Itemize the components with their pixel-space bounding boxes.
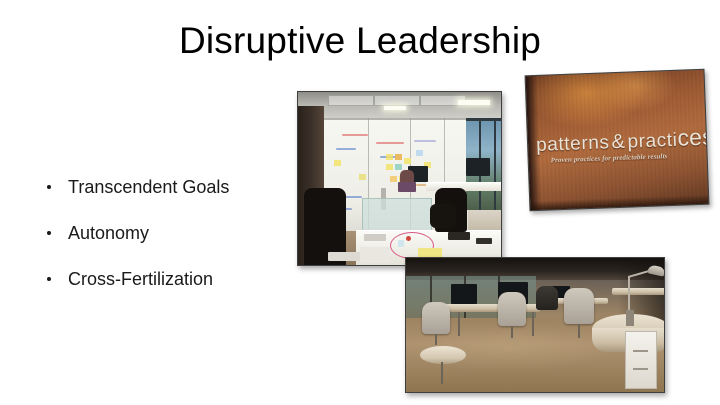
sign-word-patterns: patterns [536, 132, 610, 156]
ceiling-tile [328, 95, 374, 106]
sign-ampersand: & [609, 131, 628, 154]
whiteboard-writing [376, 142, 404, 144]
slide-canvas: Disruptive Leadership Transcendent Goals… [0, 0, 720, 405]
bullet-dot-icon [47, 231, 51, 235]
chair-post [435, 334, 437, 345]
photo-patterns-practices-image: patterns&practices Proven practices for … [526, 70, 709, 210]
lamp-base [626, 310, 634, 326]
sticky-note [334, 160, 341, 166]
lamp-post [628, 276, 630, 310]
ceiling-tile [374, 95, 420, 106]
device [476, 238, 492, 244]
ceiling-light [458, 100, 490, 105]
sticky-note [395, 164, 402, 170]
power-strip [364, 234, 386, 241]
list-item-label: Transcendent Goals [68, 177, 229, 197]
paper [360, 247, 390, 263]
desk-leg [532, 312, 534, 336]
whiteboard-writing [414, 140, 436, 142]
round-table [420, 346, 466, 364]
sticky-note [386, 164, 393, 170]
photo-open-office [405, 257, 665, 393]
photo-open-office-image [406, 258, 664, 392]
office-chair [422, 302, 450, 334]
page-title: Disruptive Leadership [0, 18, 720, 64]
monitor [466, 158, 490, 176]
photo-patterns-practices-sign: patterns&practices Proven practices for … [525, 69, 710, 212]
sticky-note [416, 150, 423, 156]
drawer-handle [633, 368, 648, 370]
table-post [441, 362, 443, 384]
bullet-dot-icon [47, 185, 51, 189]
laptop [448, 232, 470, 240]
chair-post [578, 324, 580, 338]
chair-post [511, 326, 513, 338]
desk-leg [458, 312, 460, 336]
list-item-label: Autonomy [68, 223, 149, 243]
sticky-note [390, 176, 397, 182]
whiteboard-writing [342, 134, 368, 136]
keyboard [328, 252, 360, 261]
list-item-label: Cross-Fertilization [68, 269, 213, 289]
office-chair [564, 288, 594, 324]
list-item: Transcendent Goals [44, 176, 294, 198]
person-torso [398, 182, 416, 192]
backpack [430, 204, 456, 228]
list-item: Autonomy [44, 222, 294, 244]
office-chair [498, 292, 526, 326]
sign-word-ces: ces [677, 123, 708, 150]
bullet-list: Transcendent Goals Autonomy Cross-Fertil… [44, 176, 294, 290]
list-item: Cross-Fertilization [44, 268, 294, 290]
monitor [451, 284, 477, 304]
ball [406, 236, 411, 241]
desk [612, 288, 664, 295]
bullet-dot-icon [47, 277, 51, 281]
sticky-note [404, 158, 411, 164]
photo-office-whiteboard [297, 91, 502, 266]
sign-word-practi: practi [627, 130, 678, 153]
sticky-note [395, 154, 402, 160]
filing-cabinet [625, 331, 657, 389]
cup [398, 240, 404, 247]
sticky-note [386, 154, 393, 160]
office-chair [536, 286, 558, 310]
ceiling-light [384, 106, 406, 110]
photo-office-whiteboard-image [298, 92, 501, 265]
sticky-note [359, 174, 366, 180]
window-frame [494, 118, 496, 210]
whiteboard-writing [336, 148, 356, 150]
drawer-handle [633, 350, 648, 352]
